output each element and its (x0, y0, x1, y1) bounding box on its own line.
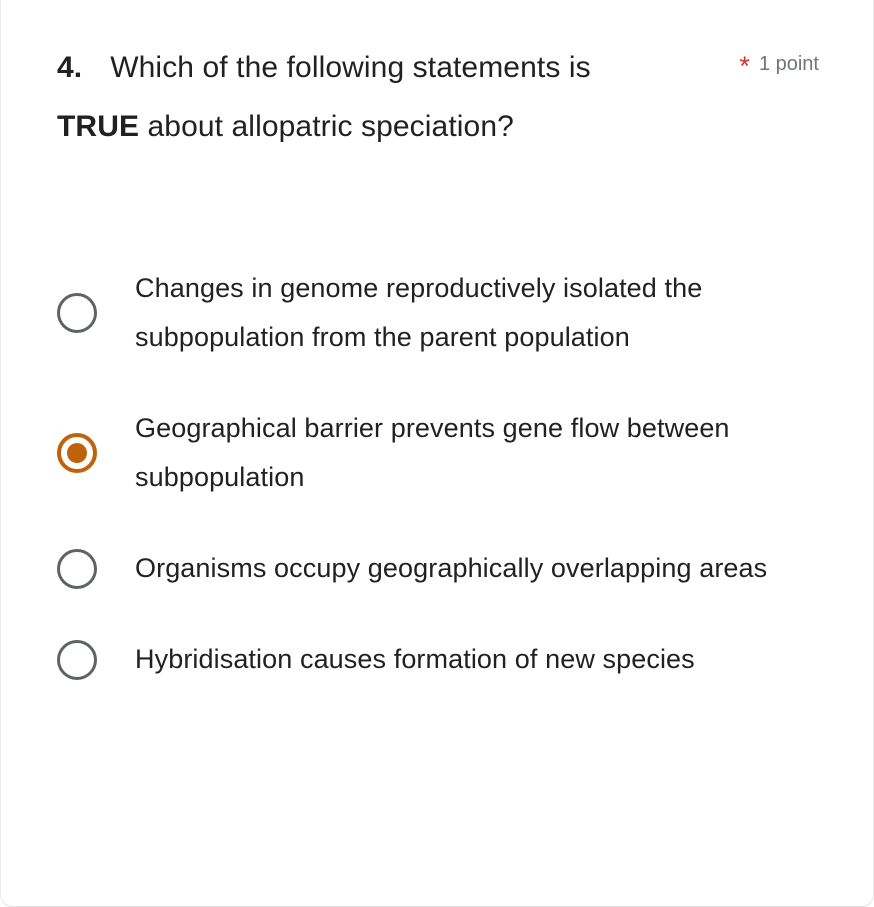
question-card: 4.Which of the following statements is T… (0, 0, 874, 907)
radio-button-selected-icon[interactable] (57, 433, 97, 473)
radio-option-2[interactable]: Geographical barrier prevents gene flow … (1, 404, 873, 502)
radio-button-unselected-icon[interactable] (57, 293, 97, 333)
question-text-emphasis: TRUE (57, 110, 139, 143)
radio-button-unselected-icon[interactable] (57, 549, 97, 589)
radio-option-label: Organisms occupy geographically overlapp… (135, 544, 767, 593)
radio-option-label: Geographical barrier prevents gene flow … (135, 404, 775, 502)
radio-button-unselected-icon[interactable] (57, 640, 97, 680)
page-title: 4.Which of the following statements is T… (57, 38, 817, 156)
points-label: 1 point (759, 54, 819, 74)
points-indicator: * 1 point (739, 48, 819, 75)
question-number: 4. (57, 51, 82, 84)
radio-option-label: Changes in genome reproductively isolate… (135, 264, 775, 362)
radio-option-4[interactable]: Hybridisation causes formation of new sp… (1, 635, 873, 684)
question-header: 4.Which of the following statements is T… (1, 0, 873, 156)
radio-option-3[interactable]: Organisms occupy geographically overlapp… (1, 544, 873, 593)
radio-option-label: Hybridisation causes formation of new sp… (135, 635, 695, 684)
question-text-before-bold: Which of the following statements is (110, 51, 590, 84)
question-text-after-bold: about allopatric speciation? (139, 110, 514, 143)
required-asterisk-icon: * (739, 53, 750, 80)
radio-option-1[interactable]: Changes in genome reproductively isolate… (1, 264, 873, 362)
radio-options-list: Changes in genome reproductively isolate… (1, 264, 873, 684)
